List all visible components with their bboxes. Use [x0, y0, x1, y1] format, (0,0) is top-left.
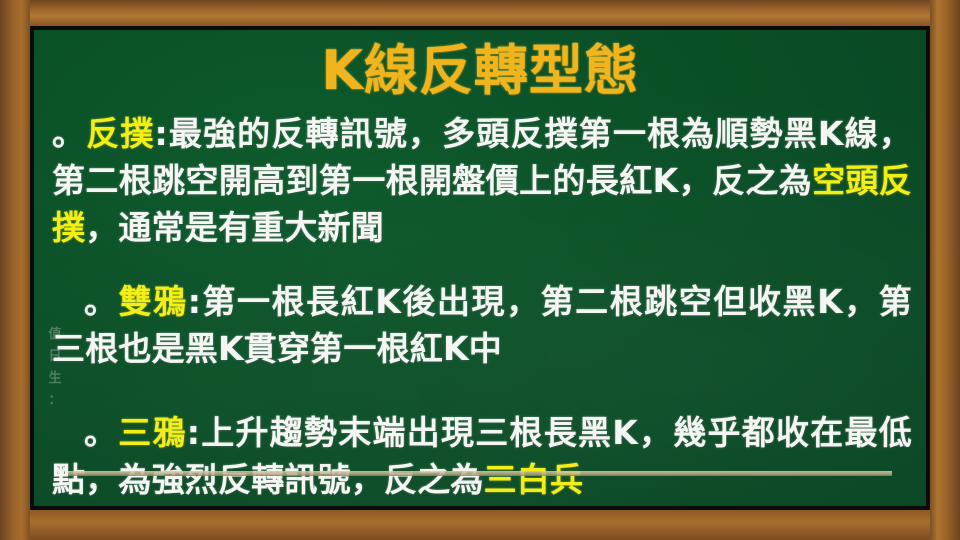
- paragraph-fanpu: 。反撲:最強的反轉訊號，多頭反撲第一根為順勢黑K線，第二根跳空開高到第一根開盤價…: [52, 110, 912, 251]
- frame-left-edge: [0, 0, 30, 540]
- colon-3: :: [187, 413, 200, 452]
- chalkboard: 值 日 生 ： K線反轉型態 。反撲:最強的反轉訊號，多頭反撲第一根為順勢黑K線…: [30, 26, 930, 510]
- paragraph-shuangya: 。雙鴉:第一根長紅K後出現，第二根跳空但收黑K，第三根也是黑K貫穿第一根紅K中: [52, 278, 912, 372]
- term-sanya: 三鴉: [118, 413, 187, 452]
- board-ledge: [68, 471, 892, 476]
- bullet-marker-1: 。: [52, 114, 86, 153]
- term-sanbaibing: 三白兵: [484, 460, 584, 499]
- paragraph-1-text-b: ，通常是有重大新聞: [85, 208, 384, 247]
- colon-2: :: [188, 282, 201, 321]
- colon-1: :: [155, 114, 168, 153]
- page-title: K線反轉型態: [34, 40, 926, 102]
- term-fanpu: 反撲: [86, 114, 154, 153]
- frame-bottom-edge: [0, 510, 960, 540]
- body-content: 。反撲:最強的反轉訊號，多頭反撲第一根為順勢黑K線，第二根跳空開高到第一根開盤價…: [52, 108, 912, 503]
- bullet-marker-2: 。: [84, 282, 119, 321]
- frame-top-edge: [0, 0, 960, 26]
- term-shuangya: 雙鴉: [119, 282, 188, 321]
- paragraph-1-text-a: 最強的反轉訊號，多頭反撲第一根為順勢黑K線，第二根跳空開高到第一根開盤價上的長紅…: [52, 114, 912, 200]
- slide-root: 值 日 生 ： K線反轉型態 。反撲:最強的反轉訊號，多頭反撲第一根為順勢黑K線…: [0, 0, 960, 540]
- paragraph-sanya: 。三鴉:上升趨勢末端出現三根長黑K，幾乎都收在最低點，為強烈反轉訊號，反之為三白…: [52, 409, 912, 503]
- bullet-marker-3: 。: [84, 413, 118, 452]
- frame-right-edge: [930, 0, 960, 540]
